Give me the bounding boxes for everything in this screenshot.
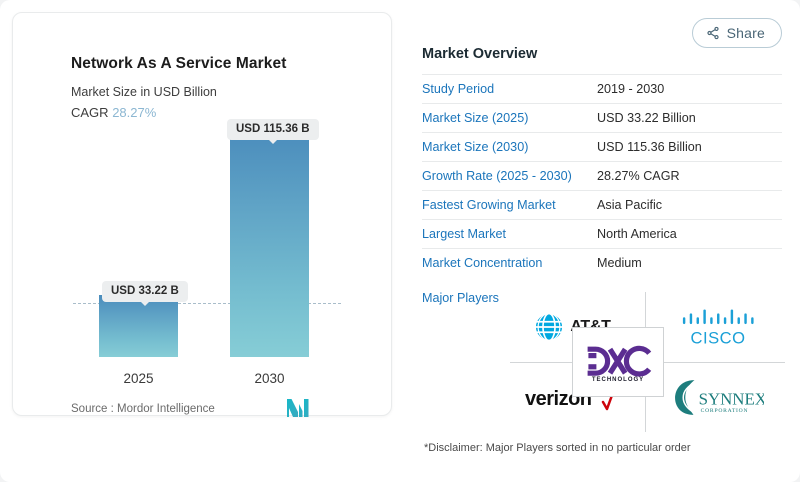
row-value: USD 33.22 Billion — [597, 111, 696, 125]
bar-chart-plot: USD 33.22 B USD 115.36 B 2025 2030 — [13, 13, 393, 417]
share-button[interactable]: Share — [692, 18, 782, 48]
row-value: Asia Pacific — [597, 198, 662, 212]
row-key: Study Period — [422, 82, 597, 96]
disclaimer-text: *Disclaimer: Major Players sorted in no … — [424, 442, 691, 454]
att-logo-icon — [534, 312, 564, 342]
player-cell-cisco: CISCO — [645, 292, 790, 362]
row-key: Market Concentration — [422, 256, 597, 270]
source-value: Mordor Intelligence — [117, 403, 215, 415]
player-cell-dxc: TECHNOLOGY — [572, 327, 664, 397]
panel-title: Market Overview — [422, 46, 782, 62]
row-value: North America — [597, 227, 677, 241]
table-row: Largest Market North America — [422, 219, 782, 248]
dxc-logo-icon: TECHNOLOGY — [582, 342, 654, 382]
x-tick-2030: 2030 — [230, 371, 309, 386]
row-value: Medium — [597, 256, 642, 270]
row-key: Growth Rate (2025 - 2030) — [422, 169, 597, 183]
synnex-logo-icon: SYNNEX CORPORATION — [672, 375, 764, 419]
row-value: 2019 - 2030 — [597, 82, 664, 96]
player-cell-synnex: SYNNEX CORPORATION — [645, 362, 790, 432]
svg-text:TECHNOLOGY: TECHNOLOGY — [592, 377, 644, 382]
row-value: USD 115.36 Billion — [597, 140, 702, 154]
bar-2025[interactable] — [99, 295, 178, 357]
share-nodes-icon — [706, 26, 720, 40]
bar-2030[interactable] — [230, 129, 309, 357]
market-overview-panel: Market Overview Study Period 2019 - 2030… — [422, 46, 782, 305]
major-players-logo-grid: AT&T CISCO — [500, 292, 790, 432]
bar-label-2030: USD 115.36 B — [227, 119, 319, 140]
table-row: Market Size (2030) USD 115.36 Billion — [422, 132, 782, 161]
svg-text:SYNNEX: SYNNEX — [698, 390, 763, 409]
x-tick-2025: 2025 — [99, 371, 178, 386]
table-row: Market Concentration Medium — [422, 248, 782, 277]
market-overview-page: Share Network As A Service Market Market… — [0, 0, 800, 482]
table-row: Growth Rate (2025 - 2030) 28.27% CAGR — [422, 161, 782, 190]
mordor-intelligence-logo-icon — [287, 399, 309, 417]
row-key: Fastest Growing Market — [422, 198, 597, 212]
svg-text:CORPORATION: CORPORATION — [700, 408, 748, 414]
svg-text:CISCO: CISCO — [690, 329, 745, 347]
cisco-logo-icon: CISCO — [679, 307, 757, 347]
row-value: 28.27% CAGR — [597, 169, 680, 183]
source-label: Source : — [71, 403, 114, 415]
share-button-label: Share — [727, 25, 765, 41]
table-row: Study Period 2019 - 2030 — [422, 74, 782, 103]
chart-card: Network As A Service Market Market Size … — [12, 12, 392, 416]
row-key: Largest Market — [422, 227, 597, 241]
chart-source: Source : Mordor Intelligence — [71, 403, 215, 415]
table-row: Fastest Growing Market Asia Pacific — [422, 190, 782, 219]
table-row: Market Size (2025) USD 33.22 Billion — [422, 103, 782, 132]
bar-label-2025: USD 33.22 B — [102, 281, 188, 302]
row-key: Market Size (2025) — [422, 111, 597, 125]
row-key: Market Size (2030) — [422, 140, 597, 154]
